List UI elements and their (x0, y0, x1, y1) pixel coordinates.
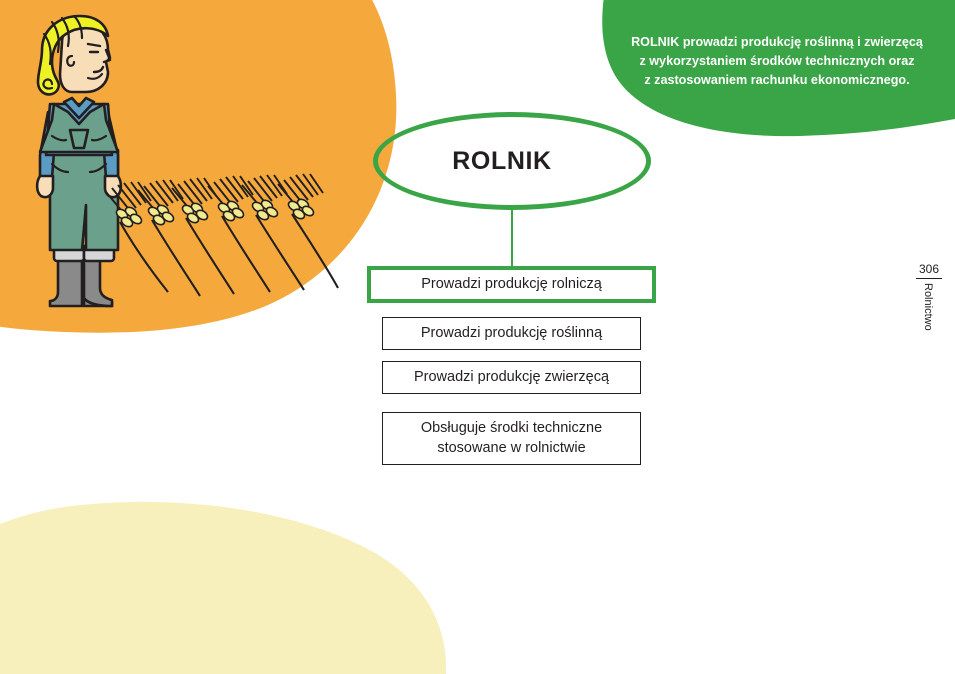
diagram-box-4-label-line-1: Obsługuje środki techniczne (421, 420, 602, 436)
diagram-box-2-label: Prowadzi produkcję roślinną (421, 324, 602, 344)
diagram-box-2[interactable]: Prowadzi produkcję roślinną (382, 317, 641, 350)
diagram-box-4[interactable]: Obsługuje środki techniczne stosowane w … (382, 412, 641, 465)
callout-line-2: z wykorzystaniem środków technicznych or… (612, 52, 942, 71)
diagram-connector-line (511, 209, 513, 269)
callout-line-1: ROLNIK prowadzi produkcję roślinną i zwi… (612, 33, 942, 52)
diagram-box-3-label: Prowadzi produkcję zwierzęcą (414, 368, 609, 388)
diagram-box-1[interactable]: Prowadzi produkcję rolniczą (367, 266, 656, 303)
page-canvas: ROLNIK prowadzi produkcję roślinną i zwi… (0, 0, 955, 674)
farmer-hand-left (37, 176, 53, 197)
diagram-box-4-label: Obsługuje środki techniczne stosowane w … (421, 419, 602, 458)
cream-blob (0, 502, 446, 674)
callout-line-3: z zastosowaniem rachunku ekonomicznego. (612, 71, 942, 90)
page-number: 306 (916, 262, 942, 279)
diagram-box-1-label: Prowadzi produkcję rolniczą (421, 275, 602, 295)
diagram-box-3[interactable]: Prowadzi produkcję zwierzęcą (382, 361, 641, 394)
diagram-root-node[interactable]: ROLNIK (373, 112, 651, 210)
diagram-box-4-label-line-2: stosowane w rolnictwie (437, 440, 585, 456)
page-section-label: Rolnictwo (922, 283, 934, 331)
farmer-overall-pocket (70, 130, 88, 148)
page-marker: 306 Rolnictwo (916, 262, 950, 331)
diagram-root-label: ROLNIK (452, 147, 551, 176)
callout-text-block: ROLNIK prowadzi produkcję roślinną i zwi… (612, 33, 942, 90)
